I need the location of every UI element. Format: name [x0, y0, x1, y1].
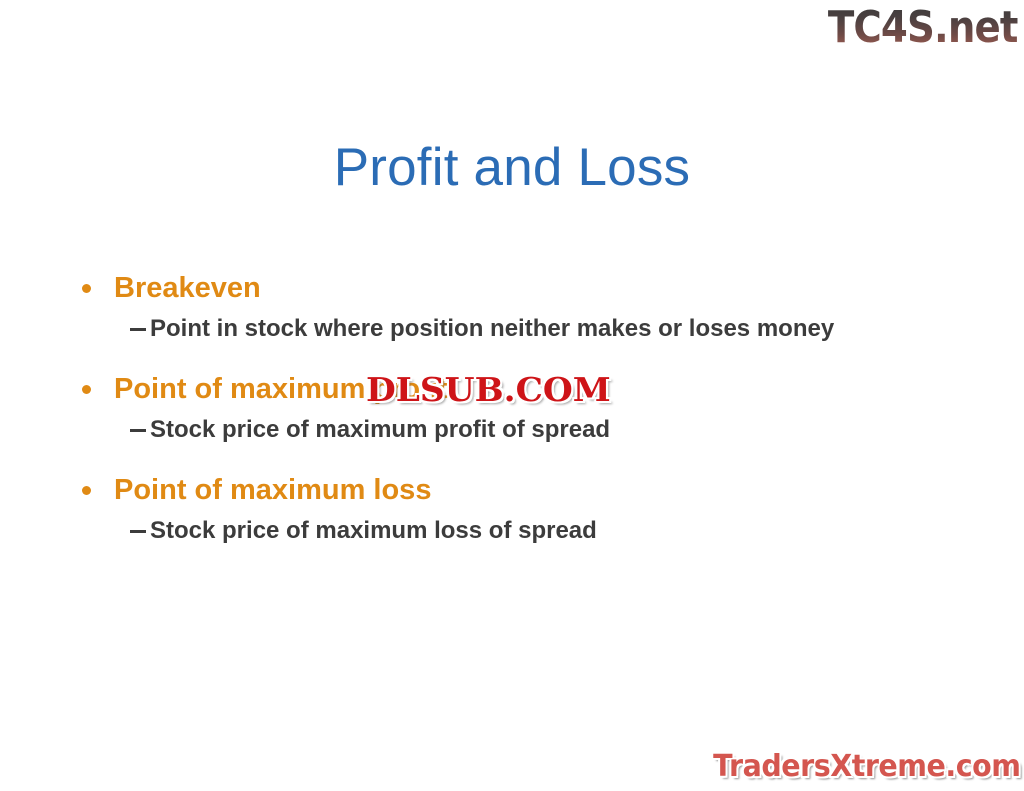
dlsub-watermark: DLSUB.COM — [366, 371, 611, 409]
dash-icon — [130, 530, 146, 533]
sub-bullet-label: Point in stock where position neither ma… — [150, 315, 834, 342]
dash-icon — [130, 429, 146, 432]
dash-icon — [130, 328, 146, 331]
presentation-slide: TC4S.net Profit and Loss Breakeven Point… — [0, 0, 1024, 791]
sub-bullet-label: Stock price of maximum profit of spread — [150, 416, 610, 443]
sub-bullet-item: Stock price of maximum profit of spread — [72, 412, 972, 448]
bullet-group: Breakeven Point in stock where position … — [72, 268, 972, 347]
sub-bullet-label: Stock price of maximum loss of spread — [150, 517, 597, 544]
sub-bullet-item: Stock price of maximum loss of spread — [72, 513, 972, 549]
bullet-item-breakeven: Breakeven — [72, 268, 972, 308]
bullet-dot-icon — [82, 385, 91, 394]
bullet-item-max-loss: Point of maximum loss — [72, 470, 972, 510]
bullet-group: Point of maximum loss Stock price of max… — [72, 470, 972, 549]
bullet-dot-icon — [82, 486, 91, 495]
bullet-dot-icon — [82, 284, 91, 293]
tc4s-site-logo: TC4S.net — [828, 2, 1018, 54]
bullet-label: Breakeven — [114, 272, 261, 304]
bullet-label: Point of maximum loss — [114, 474, 431, 506]
sub-bullet-item: Point in stock where position neither ma… — [72, 311, 972, 347]
slide-title: Profit and Loss — [0, 137, 1024, 198]
tradersxtreme-brand: TradersXtreme.com — [713, 749, 1020, 785]
